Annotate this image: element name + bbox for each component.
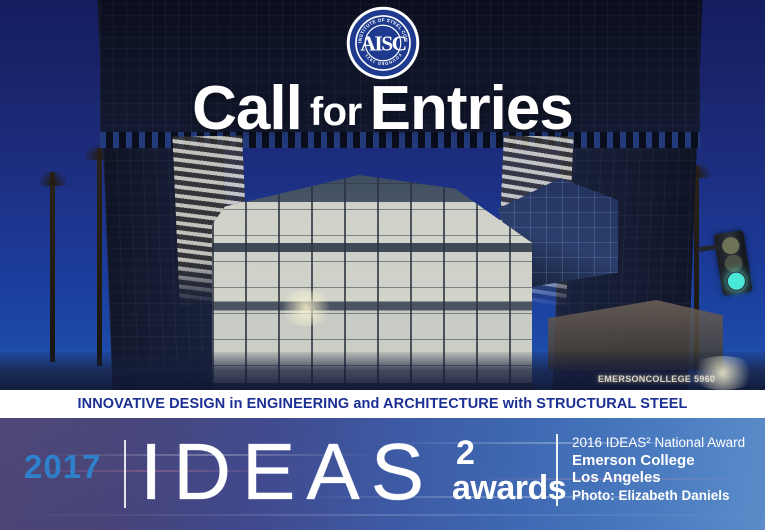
ideas-wordmark: IDEAS <box>140 432 435 512</box>
footer-divider-left <box>124 440 126 508</box>
street-foreground <box>0 352 765 392</box>
awards-count: 2 <box>452 436 566 470</box>
awards-label: awards <box>452 470 566 506</box>
awards-count-block: 2 awards <box>452 436 566 506</box>
interior-light-glow <box>276 290 336 326</box>
aisc-call-for-entries-poster: EMERSONCOLLEGE 5960 AMERICAN INSTITUTE O… <box>0 0 765 530</box>
caption-award: 2016 IDEAS² National Award <box>572 434 745 452</box>
photo-credit-block: 2016 IDEAS² National Award Emerson Colle… <box>572 434 745 504</box>
caption-project: Emerson College <box>572 452 745 470</box>
tagline-bar: INNOVATIVE DESIGN in ENGINEERING and ARC… <box>0 390 765 418</box>
headline-word-for: for <box>310 90 362 134</box>
footer-divider-right <box>556 434 558 506</box>
award-year: 2017 <box>24 448 101 486</box>
emerson-college-sign: EMERSONCOLLEGE 5960 <box>598 374 715 384</box>
headline-word-call: Call <box>192 74 302 143</box>
page-title: CallforEntries <box>0 78 765 140</box>
caption-location: Los Angeles <box>572 469 745 487</box>
tagline-text: INNOVATIVE DESIGN in ENGINEERING and ARC… <box>78 396 688 412</box>
headline-word-entries: Entries <box>370 74 573 143</box>
street-light-glow <box>688 356 758 390</box>
aisc-logo: AMERICAN INSTITUTE OF STEEL CONSTRUCTION… <box>346 6 420 80</box>
caption-photographer: Photo: Elizabeth Daniels <box>572 487 745 505</box>
palm-tree-left <box>36 162 70 362</box>
